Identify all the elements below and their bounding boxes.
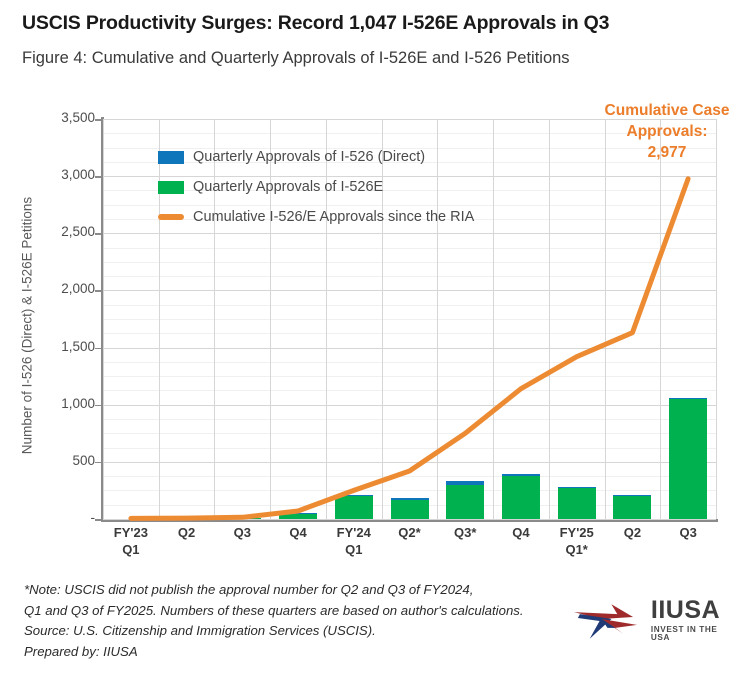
iiusa-star-icon <box>572 598 643 642</box>
x-tick-label: FY'25Q1* <box>549 524 605 558</box>
y-tick-mark <box>95 176 102 178</box>
y-tick-label: 1,000 <box>9 396 95 411</box>
logo-text: IIUSA INVEST IN THE USA <box>651 598 738 642</box>
x-tick-label: Q3 <box>660 524 716 541</box>
footnote: *Note: USCIS did not publish the approva… <box>24 580 569 662</box>
footnote-line-2: Q1 and Q3 of FY2025. Numbers of these qu… <box>24 601 569 622</box>
header: USCIS Productivity Surges: Record 1,047 … <box>0 0 747 68</box>
x-tick-label-line1: FY'24 <box>337 525 371 540</box>
x-tick-label-line2: Q1 <box>103 541 159 558</box>
annotation-line-2: Approvals: <box>592 121 742 142</box>
x-tick-label-line2: Q1* <box>549 541 605 558</box>
x-tick-label-line1: FY'23 <box>114 525 148 540</box>
x-tick-label: FY'23Q1 <box>103 524 159 558</box>
legend-line-swatch-icon <box>158 214 184 220</box>
x-tick-label: FY'24Q1 <box>326 524 382 558</box>
y-tick-mark <box>95 519 102 521</box>
y-tick-label: - <box>9 510 95 525</box>
legend-item[interactable]: Cumulative I-526/E Approvals since the R… <box>158 208 474 226</box>
x-tick-label: Q3* <box>437 524 493 541</box>
x-tick-label: Q2 <box>159 524 215 541</box>
y-tick-label: 2,000 <box>9 281 95 296</box>
annotation-line-3: 2,977 <box>592 142 742 163</box>
legend-color-swatch-icon <box>158 181 184 194</box>
x-tick-label-line1: FY'25 <box>560 525 594 540</box>
cumulative-annotation: Cumulative Case Approvals: 2,977 <box>592 100 742 163</box>
logo-tagline: INVEST IN THE USA <box>651 626 738 642</box>
logo-name: IIUSA <box>651 598 738 623</box>
legend-item[interactable]: Quarterly Approvals of I-526E <box>158 178 474 196</box>
x-tick-label-line1: Q3* <box>454 525 476 540</box>
legend-label: Quarterly Approvals of I-526E <box>193 179 383 195</box>
x-axis-labels: FY'23Q1Q2Q3Q4FY'24Q1Q2*Q3*Q4FY'25Q1*Q2Q3 <box>103 524 716 580</box>
x-tick-label-line1: Q3 <box>679 525 696 540</box>
y-tick-mark <box>95 290 102 292</box>
y-tick-mark <box>95 405 102 407</box>
x-tick-label: Q4 <box>270 524 326 541</box>
figure-container: USCIS Productivity Surges: Record 1,047 … <box>0 0 747 690</box>
chart-legend: Quarterly Approvals of I-526 (Direct)Qua… <box>158 148 474 226</box>
footnote-line-3: Source: U.S. Citizenship and Immigration… <box>24 621 569 642</box>
footnote-line-1: *Note: USCIS did not publish the approva… <box>24 580 569 601</box>
footnote-line-4: Prepared by: IIUSA <box>24 642 569 663</box>
y-tick-label: 1,500 <box>9 339 95 354</box>
y-tick-mark <box>95 348 102 350</box>
y-tick-mark <box>95 462 102 464</box>
figure-subtitle: Figure 4: Cumulative and Quarterly Appro… <box>22 49 729 68</box>
x-tick-label-line2: Q1 <box>326 541 382 558</box>
y-tick-label: 2,500 <box>9 224 95 239</box>
y-tick-mark <box>95 233 102 235</box>
x-tick-label: Q4 <box>493 524 549 541</box>
x-tick-label-line1: Q2 <box>178 525 195 540</box>
x-tick-label: Q2* <box>382 524 438 541</box>
iiusa-logo: IIUSA INVEST IN THE USA <box>572 592 738 648</box>
y-tick-label: 500 <box>9 453 95 468</box>
page-title: USCIS Productivity Surges: Record 1,047 … <box>22 12 729 35</box>
legend-color-swatch-icon <box>158 151 184 164</box>
x-tick-label: Q3 <box>214 524 270 541</box>
x-tick-label-line1: Q2 <box>624 525 641 540</box>
y-tick-label: 3,000 <box>9 167 95 182</box>
x-tick-label: Q2 <box>605 524 661 541</box>
x-tick-label-line1: Q3 <box>234 525 251 540</box>
legend-label: Cumulative I-526/E Approvals since the R… <box>193 209 474 225</box>
cumulative-line-path <box>131 179 688 519</box>
x-tick-label-line1: Q4 <box>289 525 306 540</box>
gridline-vertical <box>716 119 717 519</box>
legend-label: Quarterly Approvals of I-526 (Direct) <box>193 149 425 165</box>
legend-item[interactable]: Quarterly Approvals of I-526 (Direct) <box>158 148 474 166</box>
x-tick-label-line1: Q2* <box>398 525 420 540</box>
y-tick-label: 3,500 <box>9 110 95 125</box>
y-tick-mark <box>95 119 102 121</box>
x-tick-label-line1: Q4 <box>512 525 529 540</box>
annotation-line-1: Cumulative Case <box>592 100 742 121</box>
